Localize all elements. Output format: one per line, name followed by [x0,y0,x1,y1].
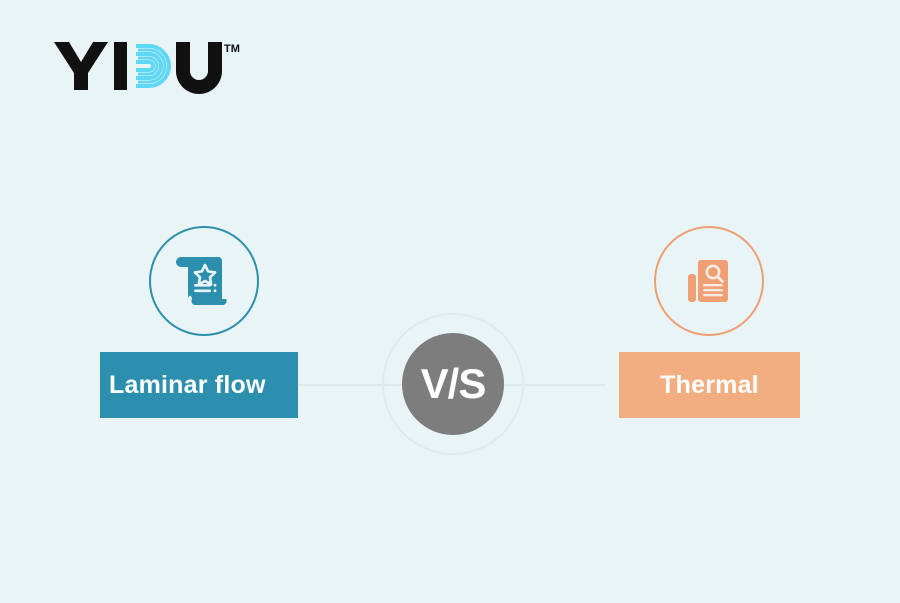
vs-badge: V/S [402,333,504,435]
vs-badge-label: V/S [421,363,486,405]
comparison-label-left-text: Laminar flow [109,371,266,400]
scroll-star-icon [175,251,233,311]
document-search-icon [680,252,738,310]
comparison-diagram: Laminar flow Thermal V/S [0,0,900,603]
icon-circle-right[interactable] [654,226,764,336]
icon-circle-left[interactable] [149,226,259,336]
comparison-label-left[interactable]: Laminar flow [100,352,298,418]
comparison-label-right[interactable]: Thermal [619,352,800,418]
comparison-label-right-text: Thermal [660,371,759,400]
